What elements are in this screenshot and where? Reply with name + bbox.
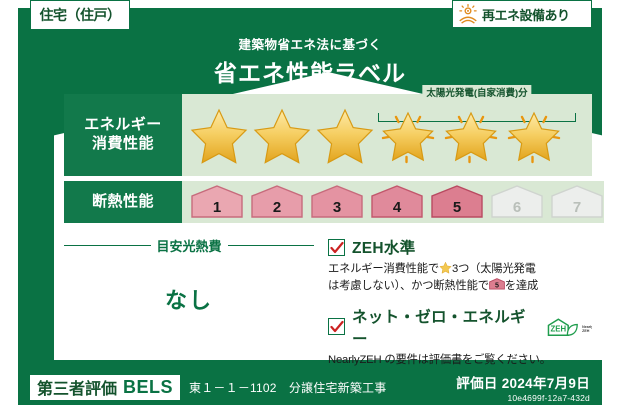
- utility-cost-block: 目安光熱費 なし: [64, 230, 314, 348]
- utility-cost-heading: 目安光熱費: [64, 236, 314, 255]
- housing-type-label: 住宅（住戸）: [40, 5, 121, 25]
- insulation-level-value: 2: [273, 199, 281, 216]
- insulation-level-scale: 1 2 3 4: [182, 181, 604, 223]
- insulation-label-text: 断熱性能: [92, 193, 154, 212]
- zeh-level-description: エネルギー消費性能で3つ（太陽光発電 は考慮しない）、かつ断熱性能で5を達成: [328, 261, 592, 295]
- star-rating: [182, 94, 592, 176]
- zeh-level-heading: ZEH水準: [328, 236, 592, 258]
- label-card: 住宅（住戸） 再エネ設備あり: [18, 8, 602, 405]
- star-icon-inline: [439, 261, 452, 274]
- label-title-block: 建築物省エネ法に基づく 省エネ性能ラベル: [18, 34, 602, 88]
- insulation-level-2: 2: [250, 185, 304, 219]
- svg-text:5: 5: [495, 281, 499, 289]
- bels-logo-text: BELS: [123, 377, 173, 398]
- energy-performance-row: エネルギー 消費性能 太陽光発電(自家消費)分: [64, 94, 592, 176]
- energy-label-line1: エネルギー: [84, 116, 162, 135]
- energy-performance-label: 住宅（住戸） 再エネ設備あり: [0, 0, 620, 413]
- insulation-level-value: 3: [333, 199, 341, 216]
- insulation-level-value: 4: [393, 199, 401, 216]
- bels-badge: 第三者評価 BELS: [30, 375, 180, 400]
- insulation-level-value: 7: [573, 199, 581, 216]
- insulation-level-inline-icon: 5: [489, 278, 505, 290]
- divider-left: [64, 245, 151, 247]
- insulation-level-4: 4: [370, 185, 424, 219]
- insulation-level-7: 7: [550, 185, 604, 219]
- insulation-level-value: 1: [213, 199, 221, 216]
- insulation-level-5: 5: [430, 185, 484, 219]
- svg-text:ZEH: ZEH: [551, 324, 567, 333]
- bels-footer-bar: 第三者評価 BELS 東１－１－1102 分譲住宅新築工事 評価日 2024年7…: [18, 369, 602, 405]
- zeh-level-title: ZEH水準: [352, 236, 416, 258]
- evaluation-date: 評価日 2024年7月9日: [456, 372, 590, 392]
- insulation-level-1: 1: [190, 185, 244, 219]
- sun-icon: [457, 3, 479, 25]
- zeh-desc-part-d: を達成: [505, 280, 538, 292]
- energy-label-line2: 消費性能: [92, 135, 154, 154]
- star-icon: [188, 104, 250, 166]
- insulation-performance-label: 断熱性能: [64, 181, 182, 223]
- utility-cost-value: なし: [64, 283, 314, 315]
- svg-text:ZEH: ZEH: [582, 329, 590, 333]
- utility-cost-label: 目安光熱費: [157, 236, 222, 255]
- star-icon: [314, 104, 376, 166]
- housing-type-tab: 住宅（住戸）: [30, 0, 130, 30]
- insulation-level-value: 6: [513, 199, 521, 216]
- page-title: 省エネ性能ラベル: [18, 54, 602, 88]
- project-name: 東１－１－1102 分譲住宅新築工事: [189, 379, 386, 396]
- evaluation-id: 10e4699f-12a7-432d: [456, 393, 590, 403]
- star-icon-solar: [503, 104, 565, 166]
- performance-rows: エネルギー 消費性能 太陽光発電(自家消費)分: [64, 94, 592, 228]
- evaluation-info: 評価日 2024年7月9日 10e4699f-12a7-432d: [456, 372, 590, 403]
- insulation-performance-row: 断熱性能 1 2 3: [64, 181, 592, 223]
- insulation-levels-area: 1 2 3 4: [182, 181, 604, 223]
- net-zero-description: NearlyZEH の要件は評価書をご覧ください。: [328, 352, 592, 369]
- renewable-label: 再エネ設備あり: [482, 5, 570, 24]
- renewable-equipment-tab: 再エネ設備あり: [452, 0, 592, 28]
- energy-stars-area: 太陽光発電(自家消費)分: [182, 94, 592, 176]
- net-zero-title: ネット・ゼロ・エネルギー: [352, 305, 539, 349]
- zeh-level-block: ZEH水準 エネルギー消費性能で3つ（太陽光発電 は考慮しない）、かつ断熱性能で…: [328, 236, 592, 295]
- evaluation-date-value: 2024年7月9日: [502, 376, 590, 391]
- zeh-badge-icon: ZEH Nearly ZEH: [546, 317, 592, 337]
- insulation-level-6: 6: [490, 185, 544, 219]
- zeh-desc-part-b: 3つ（太陽光発電: [452, 263, 536, 275]
- net-zero-heading: ネット・ゼロ・エネルギー ZEH Nearly ZEH: [328, 305, 592, 349]
- zeh-level-checkbox[interactable]: [328, 239, 345, 256]
- energy-performance-label: エネルギー 消費性能: [64, 94, 182, 176]
- net-zero-block: ネット・ゼロ・エネルギー ZEH Nearly ZEH NearlyZEH の要…: [328, 305, 592, 369]
- bels-third-party-label: 第三者評価: [37, 375, 117, 399]
- zeh-desc-part-c: は考慮しない）、かつ断熱性能で: [328, 280, 489, 292]
- divider-right: [228, 245, 315, 247]
- net-zero-checkbox[interactable]: [328, 318, 345, 335]
- insulation-level-value: 5: [453, 199, 461, 216]
- star-icon: [251, 104, 313, 166]
- star-icon-solar: [440, 104, 502, 166]
- evaluation-date-label: 評価日: [456, 376, 497, 391]
- zeh-desc-part-a: エネルギー消費性能で: [328, 263, 439, 275]
- label-subtitle: 建築物省エネ法に基づく: [18, 34, 602, 53]
- certification-block: ZEH水準 エネルギー消費性能で3つ（太陽光発電 は考慮しない）、かつ断熱性能で…: [314, 230, 592, 348]
- lower-section: 目安光熱費 なし ZEH水準 エネ: [64, 230, 592, 348]
- star-icon-solar: [377, 104, 439, 166]
- insulation-level-3: 3: [310, 185, 364, 219]
